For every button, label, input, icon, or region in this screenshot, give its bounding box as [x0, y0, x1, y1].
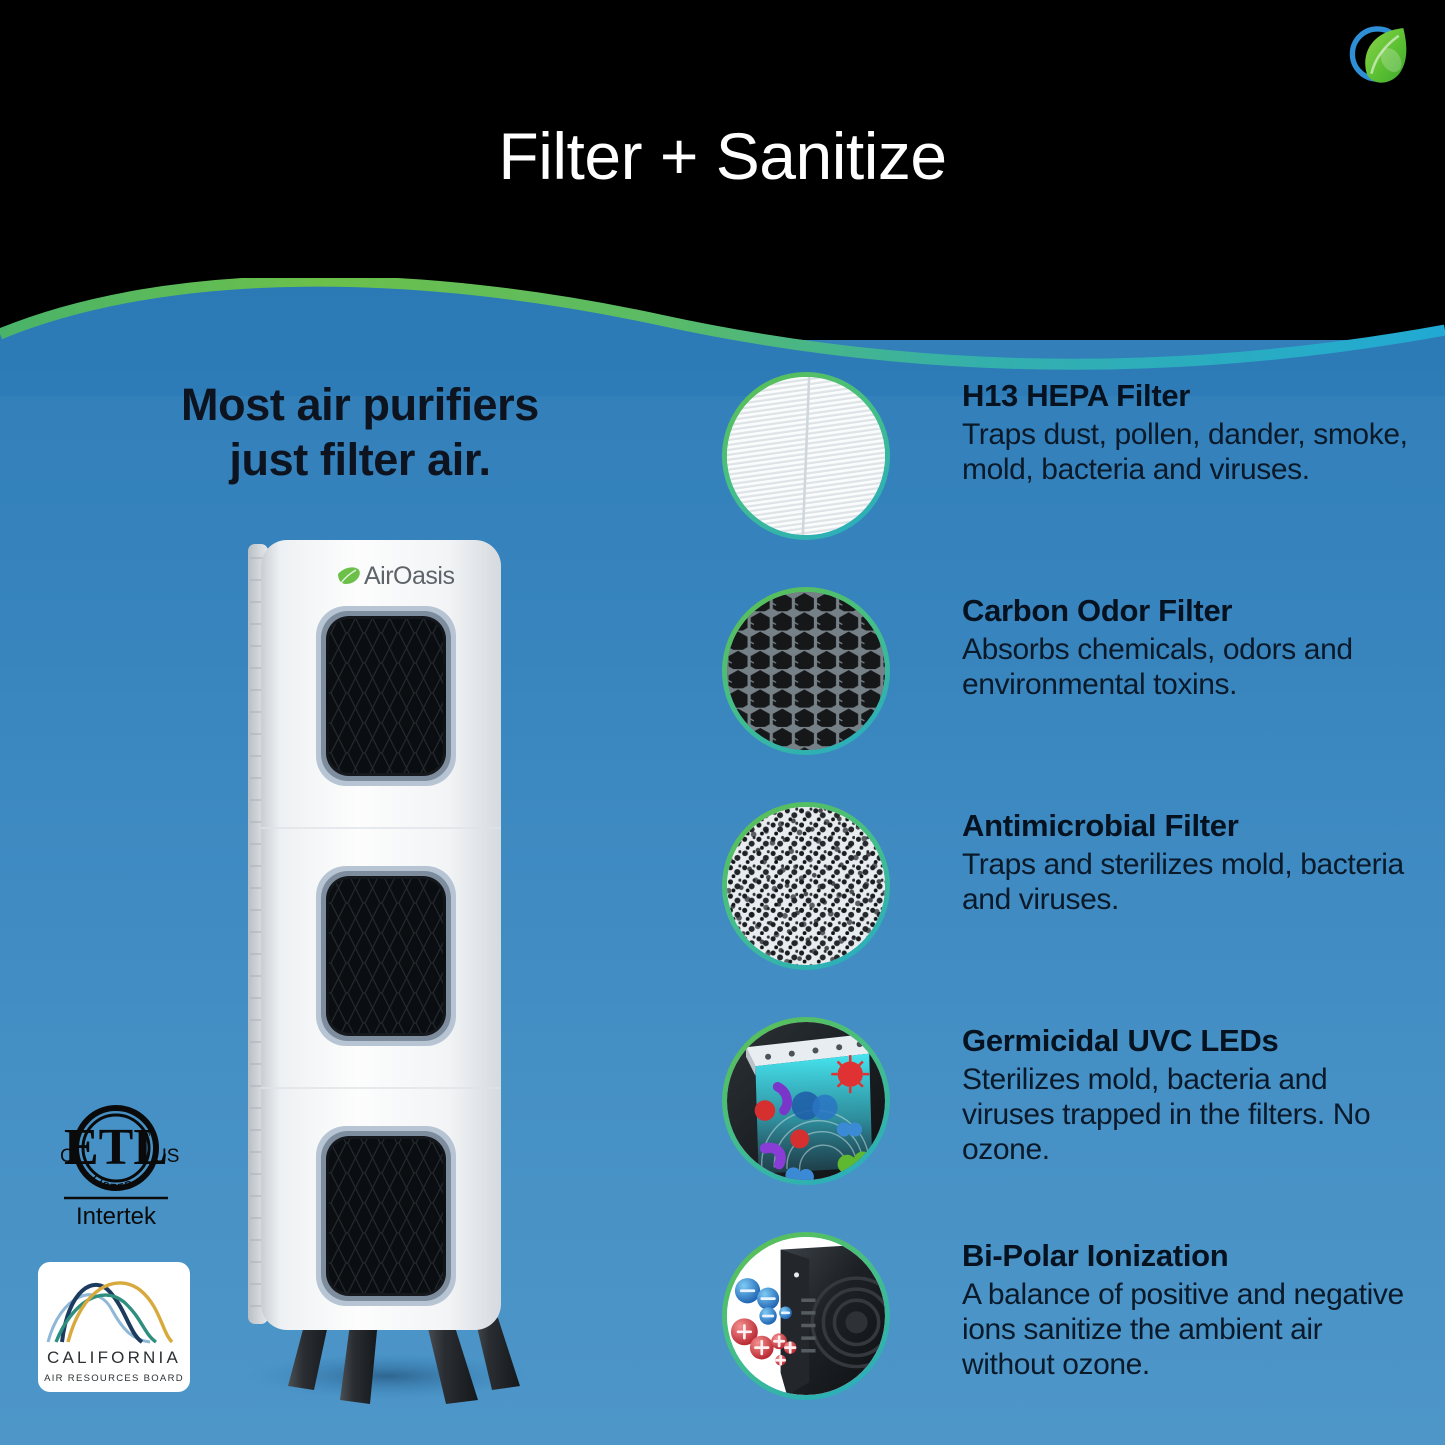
feature-carbon-odor-filter: Carbon Odor Filter Absorbs chemicals, od…	[722, 587, 1422, 802]
feature-thumb-ring	[722, 1232, 890, 1400]
feature-thumb-ring	[722, 372, 890, 540]
etl-listed-badge: ETL TM C US LISTED Intertek	[36, 1104, 196, 1234]
honeycomb-carbon-filter-photo	[727, 592, 885, 750]
etl-company-label: Intertek	[76, 1203, 157, 1230]
feature-thumb-ring	[722, 587, 890, 755]
ionizing-fan-illustration	[727, 1237, 885, 1395]
feature-description: A balance of positive and negative ions …	[962, 1277, 1417, 1382]
svg-text:AirOasis: AirOasis	[364, 562, 454, 590]
feature-germicidal-uvc-leds: Germicidal UVC LEDs Sterilizes mold, bac…	[722, 1017, 1422, 1232]
feature-h13-hepa-filter: H13 HEPA Filter Traps dust, pollen, dand…	[722, 372, 1422, 587]
feature-bi-polar-ionization: Bi-Polar Ionization A balance of positiv…	[722, 1232, 1422, 1445]
feature-title: H13 HEPA Filter	[962, 378, 1417, 414]
etl-right-label: US	[153, 1146, 179, 1167]
feature-text-block: Antimicrobial Filter Traps and sterilize…	[962, 808, 1417, 917]
carb-title: CALIFORNIA	[38, 1348, 190, 1368]
carb-subtitle: AIR RESOURCES BOARD	[38, 1373, 190, 1384]
feature-text-block: H13 HEPA Filter Traps dust, pollen, dand…	[962, 378, 1417, 487]
etl-left-label: C	[60, 1146, 74, 1167]
intake-panel-2	[316, 866, 456, 1046]
feature-text-block: Germicidal UVC LEDs Sterilizes mold, bac…	[962, 1023, 1417, 1167]
feature-title: Bi-Polar Ionization	[962, 1238, 1417, 1274]
feature-list: H13 HEPA Filter Traps dust, pollen, dand…	[722, 372, 1422, 1445]
feature-description: Traps and sterilizes mold, bacteria and …	[962, 847, 1417, 917]
speckled-antimicrobial-media-photo	[727, 807, 885, 965]
feature-title: Germicidal UVC LEDs	[962, 1023, 1417, 1059]
page-title: Filter + Sanitize	[0, 118, 1445, 194]
intake-panel-3	[316, 1126, 456, 1306]
left-headline: Most air purifiers just filter air.	[60, 378, 660, 488]
carb-arcs-icon	[38, 1262, 190, 1350]
california-air-resources-board-badge: CALIFORNIA AIR RESOURCES BOARD	[38, 1262, 190, 1392]
headline-line-2: just filter air.	[60, 433, 660, 488]
feature-antimicrobial-filter: Antimicrobial Filter Traps and sterilize…	[722, 802, 1422, 1017]
headline-line-1: Most air purifiers	[60, 378, 660, 433]
pleated-hepa-filter-photo	[727, 377, 885, 535]
feature-description: Absorbs chemicals, odors and environment…	[962, 632, 1417, 702]
feature-description: Sterilizes mold, bacteria and viruses tr…	[962, 1062, 1417, 1167]
feature-text-block: Carbon Odor Filter Absorbs chemicals, od…	[962, 593, 1417, 702]
etl-trademark: TM	[139, 1129, 151, 1138]
uvc-led-panel-illustration	[727, 1022, 885, 1180]
intake-panel-1	[316, 606, 456, 786]
feature-thumb-ring	[722, 1017, 890, 1185]
infographic-page: Filter + Sanitize	[0, 0, 1445, 1445]
feature-title: Antimicrobial Filter	[962, 808, 1417, 844]
air-purifier-product-image: AirOasis	[228, 528, 538, 1408]
feature-text-block: Bi-Polar Ionization A balance of positiv…	[962, 1238, 1417, 1382]
feature-title: Carbon Odor Filter	[962, 593, 1417, 629]
feature-thumb-ring	[722, 802, 890, 970]
feature-description: Traps dust, pollen, dander, smoke, mold,…	[962, 417, 1417, 487]
leaf-circle-logo	[1341, 16, 1417, 92]
